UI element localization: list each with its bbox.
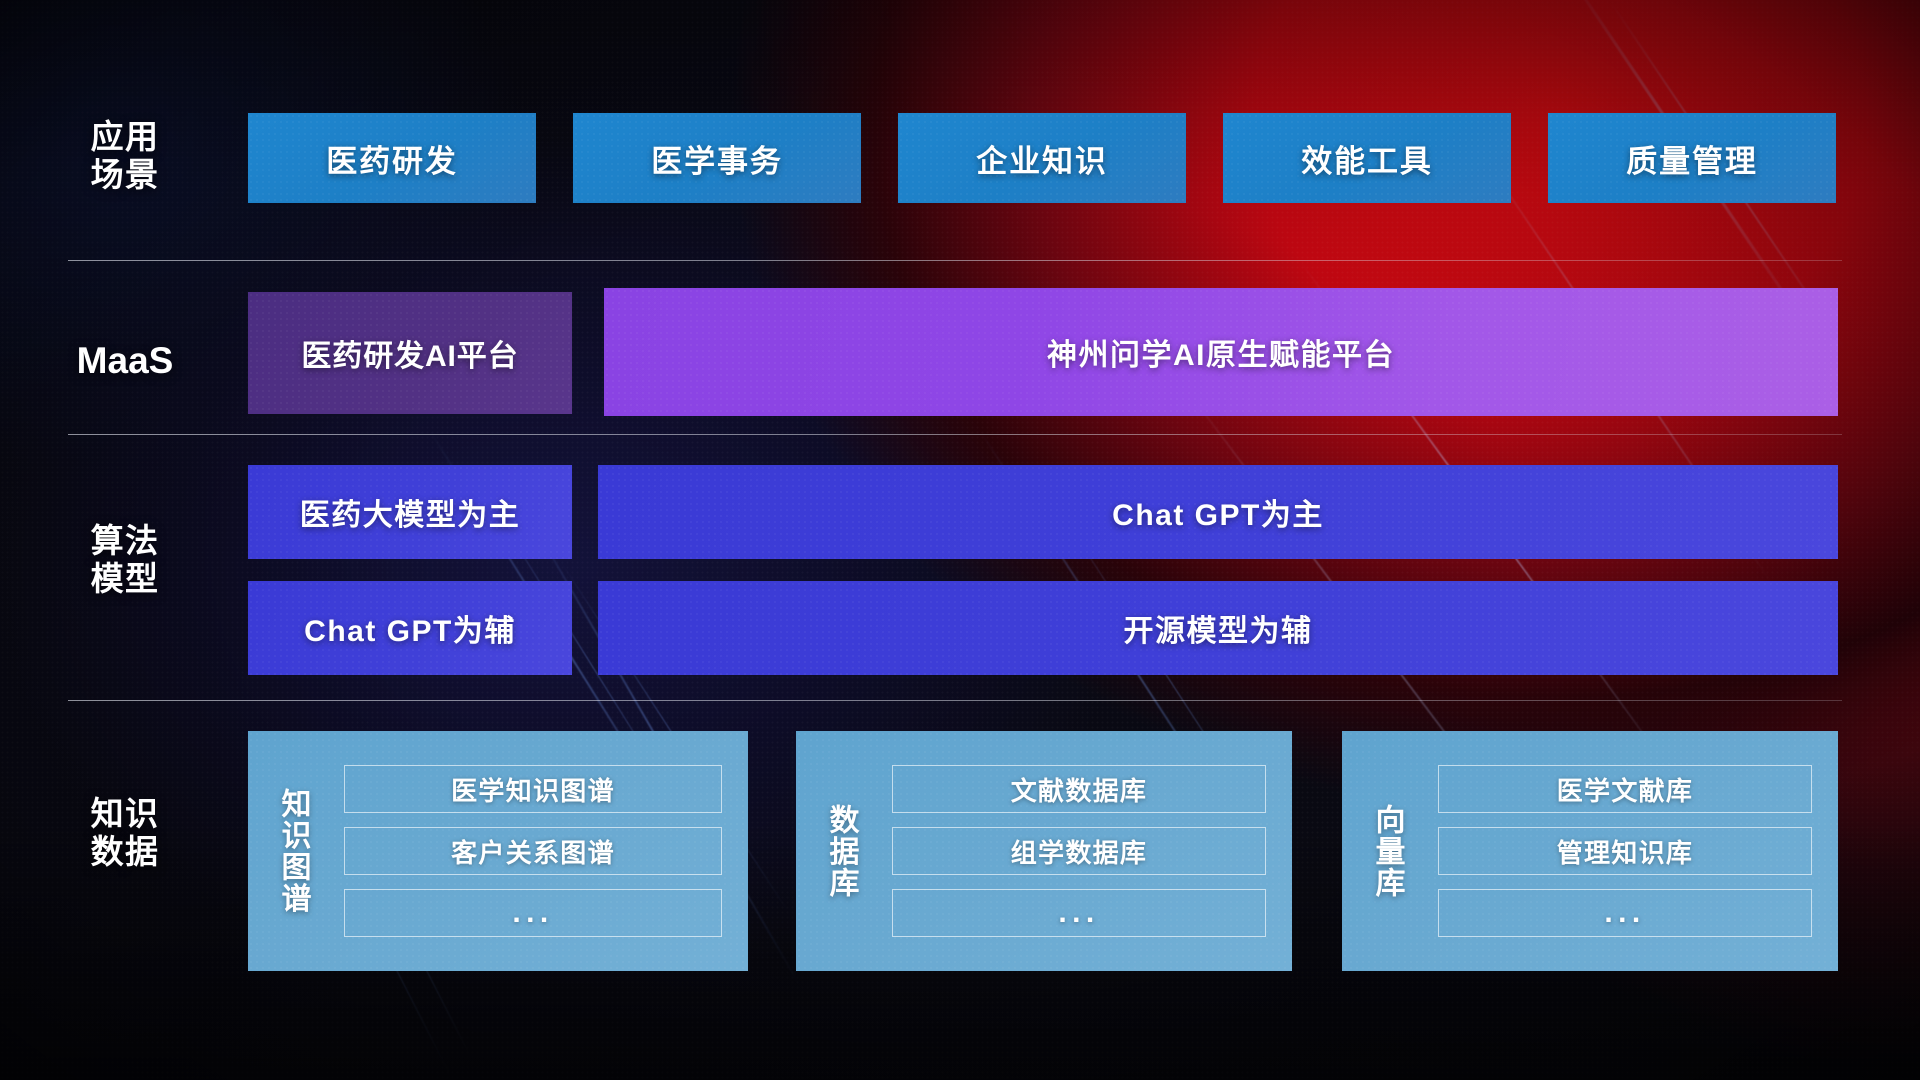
knowledge-item-more[interactable]: ...: [1438, 889, 1812, 937]
divider-3: [68, 700, 1842, 701]
knowledge-panel-title: 知识图谱: [248, 731, 338, 971]
architecture-diagram: 应用 场景 医药研发 医学事务 企业知识 效能工具 质量管理 MaaS 医药研发…: [0, 0, 1920, 1080]
knowledge-item[interactable]: 管理知识库: [1438, 827, 1812, 875]
divider-1: [68, 260, 1842, 261]
scene-card-3[interactable]: 企业知识: [898, 113, 1186, 203]
row-label-maas: MaaS: [60, 340, 190, 383]
knowledge-item[interactable]: 组学数据库: [892, 827, 1266, 875]
algo-card-left-secondary[interactable]: Chat GPT为辅: [248, 581, 572, 675]
knowledge-panel-title: 向量库: [1342, 731, 1432, 971]
row-label-application-scenario: 应用 场景: [60, 118, 190, 195]
maas-platform-card-left[interactable]: 医药研发AI平台: [248, 292, 572, 414]
knowledge-panel-database[interactable]: 数据库 文献数据库 组学数据库 ...: [796, 731, 1292, 971]
divider-2: [68, 434, 1842, 435]
row-label-algorithm-model: 算法 模型: [60, 522, 190, 599]
knowledge-item[interactable]: 医学文献库: [1438, 765, 1812, 813]
scene-card-1[interactable]: 医药研发: [248, 113, 536, 203]
knowledge-panel-items: 医学知识图谱 客户关系图谱 ...: [338, 731, 748, 971]
algo-card-right-primary[interactable]: Chat GPT为主: [598, 465, 1838, 559]
maas-platform-card-right[interactable]: 神州问学AI原生赋能平台: [604, 288, 1838, 416]
knowledge-item[interactable]: 客户关系图谱: [344, 827, 722, 875]
knowledge-panel-title: 数据库: [796, 731, 886, 971]
row-label-knowledge-data: 知识 数据: [60, 795, 190, 872]
algo-card-right-secondary[interactable]: 开源模型为辅: [598, 581, 1838, 675]
knowledge-panel-vector-store[interactable]: 向量库 医学文献库 管理知识库 ...: [1342, 731, 1838, 971]
knowledge-item-more[interactable]: ...: [892, 889, 1266, 937]
scene-card-2[interactable]: 医学事务: [573, 113, 861, 203]
scene-card-5[interactable]: 质量管理: [1548, 113, 1836, 203]
algo-card-left-primary[interactable]: 医药大模型为主: [248, 465, 572, 559]
knowledge-item[interactable]: 文献数据库: [892, 765, 1266, 813]
knowledge-panel-items: 医学文献库 管理知识库 ...: [1432, 731, 1838, 971]
knowledge-item[interactable]: 医学知识图谱: [344, 765, 722, 813]
knowledge-panel-items: 文献数据库 组学数据库 ...: [886, 731, 1292, 971]
scene-card-4[interactable]: 效能工具: [1223, 113, 1511, 203]
knowledge-panel-knowledge-graph[interactable]: 知识图谱 医学知识图谱 客户关系图谱 ...: [248, 731, 748, 971]
knowledge-item-more[interactable]: ...: [344, 889, 722, 937]
